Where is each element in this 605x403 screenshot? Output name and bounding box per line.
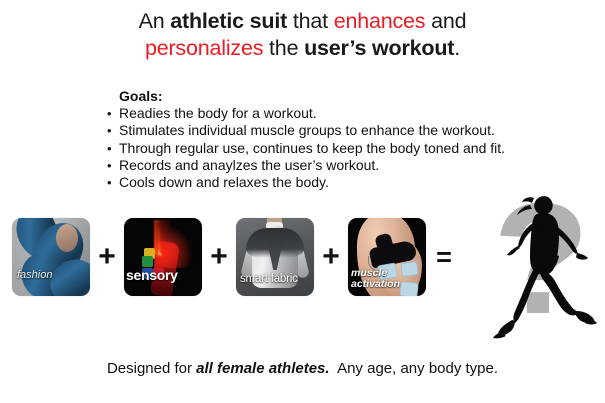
- tile-fashion: fashion: [12, 218, 90, 296]
- sensory-color-chip: [153, 268, 164, 279]
- bullet-icon: •: [107, 157, 119, 174]
- bullet-icon: •: [107, 105, 119, 122]
- bullet-icon: •: [107, 174, 119, 191]
- goal-text: Cools down and relaxes the body.: [119, 174, 329, 190]
- equals-operator-icon: =: [426, 244, 462, 271]
- plus-operator-icon: +: [314, 242, 348, 272]
- title-text-and: and: [425, 9, 466, 33]
- goal-text: Stimulates individual muscle groups to e…: [119, 122, 495, 138]
- title-red-personalizes: personalizes: [145, 36, 263, 60]
- footer-text-designed-for: Designed for: [107, 360, 196, 377]
- running-woman-silhouette-icon: [485, 193, 603, 341]
- title-bold-users-workout: user’s workout: [304, 36, 454, 60]
- plus-operator-icon: +: [90, 242, 124, 272]
- bullet-icon: •: [107, 140, 119, 157]
- goal-text: Readies the body for a workout.: [119, 105, 317, 121]
- page-title: An athletic suit that enhances and perso…: [0, 8, 605, 62]
- tile-muscle-activation: muscle activation: [348, 218, 426, 296]
- title-bold-athletic-suit: athletic suit: [170, 9, 287, 33]
- title-period: .: [454, 36, 460, 60]
- tile-smart-fabric: smart fabric: [236, 218, 314, 296]
- fashion-model-figure: [56, 224, 78, 252]
- title-line-2: personalizes the user’s workout.: [0, 35, 605, 62]
- bullet-icon: •: [107, 122, 119, 139]
- goal-list-item: •Stimulates individual muscle groups to …: [107, 122, 577, 139]
- goals-heading: Goals:: [119, 88, 577, 105]
- tile-sensory: sensory: [124, 218, 202, 296]
- title-text-the: the: [263, 36, 304, 60]
- goal-list-item: •Readies the body for a workout.: [107, 105, 577, 122]
- title-text-that: that: [287, 9, 334, 33]
- goal-text: Records and anaylzes the user’s workout.: [119, 157, 379, 173]
- sensory-color-chip: [142, 256, 153, 267]
- goal-list-item: •Through regular use, continues to keep …: [107, 140, 577, 157]
- footer-text-any-age: Any age, any body type.: [330, 360, 498, 377]
- goal-text: Through regular use, continues to keep t…: [119, 140, 505, 156]
- result-graphic: ?: [485, 193, 603, 341]
- sensory-light-burst-core: [158, 228, 198, 262]
- footer-caption: Designed for all female athletes. Any ag…: [0, 360, 605, 377]
- title-red-enhances: enhances: [334, 9, 426, 33]
- footer-bold-all-female-athletes: all female athletes.: [196, 360, 329, 377]
- title-text-an: An: [139, 9, 171, 33]
- sensory-color-chip: [142, 268, 153, 279]
- electrode-pad: [399, 281, 418, 296]
- plus-operator-icon: +: [202, 242, 236, 272]
- title-line-1: An athletic suit that enhances and: [0, 8, 605, 35]
- electrode-pad: [400, 261, 419, 277]
